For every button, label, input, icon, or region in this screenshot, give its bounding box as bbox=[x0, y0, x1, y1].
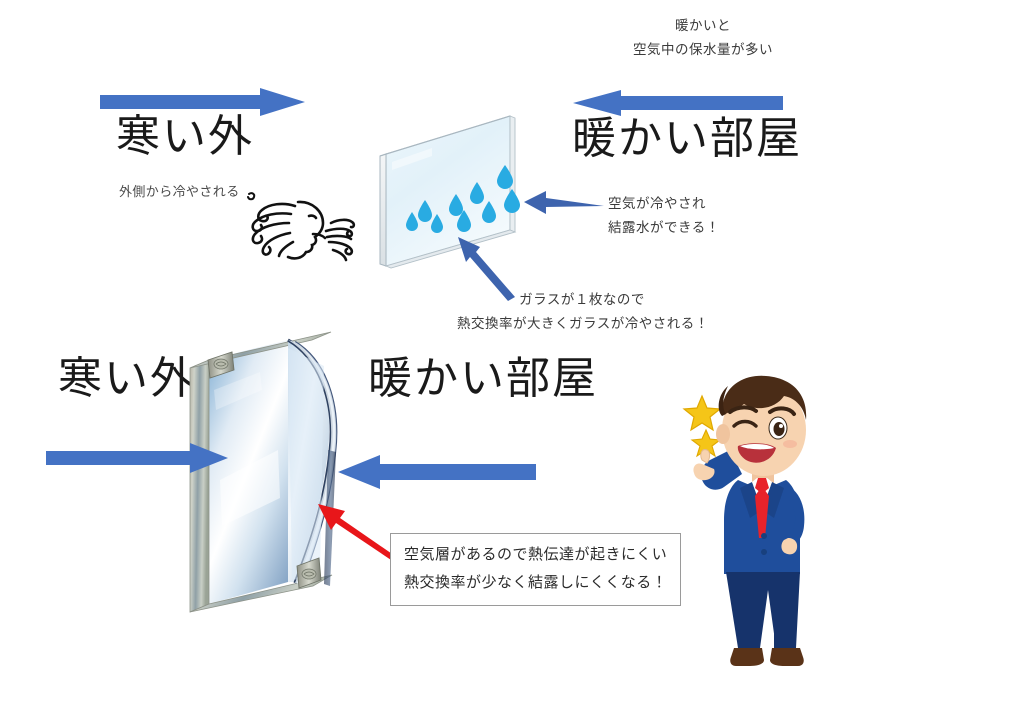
single-glass-note-line1: ガラスが１枚なので bbox=[457, 288, 707, 312]
thin-arrow-left-shape bbox=[524, 190, 604, 216]
air-layer-pointer-arrow bbox=[318, 500, 400, 562]
bottom-warm-air-flow-arrow bbox=[338, 455, 536, 489]
right-shoe bbox=[770, 648, 804, 666]
single-glass-note: ガラスが１枚なので 熱交換率が大きくガラスが冷やされる！ bbox=[457, 288, 707, 335]
air-layer-note-box: 空気層があるので熱伝達が起きにくい 熱交換率が少なく結露しにくくなる！ bbox=[390, 533, 681, 606]
warm-air-moisture-note-line1: 暖かいと bbox=[588, 14, 818, 38]
bottom-cold-air-inflow-arrow bbox=[46, 443, 228, 473]
sparkle-stars-icon bbox=[684, 396, 720, 456]
air-layer-note-line1: 空気層があるので熱伝達が起きにくい bbox=[404, 541, 667, 569]
warm-air-moisture-note-line2: 空気中の保水量が多い bbox=[588, 38, 818, 62]
condensation-note-line1: 空気が冷やされ bbox=[608, 192, 720, 216]
single-glass-note-line2: 熱交換率が大きくガラスが冷やされる！ bbox=[457, 312, 707, 336]
businessman-character bbox=[672, 368, 852, 670]
diagram-canvas: 暖かいと 空気中の保水量が多い 寒い外 暖かい部屋 外側から冷やされる bbox=[0, 0, 1024, 723]
wind-face-shape bbox=[243, 190, 361, 266]
top-outside-label: 寒い外 bbox=[116, 114, 254, 160]
wind-blowing-face-icon bbox=[243, 190, 361, 266]
top-inside-label: 暖かい部屋 bbox=[572, 116, 802, 162]
air-layer-note-line2: 熱交換率が少なく結露しにくくなる！ bbox=[404, 569, 667, 597]
arrow-left-shape bbox=[338, 455, 536, 489]
condensation-note-line2: 結露水ができる！ bbox=[608, 216, 720, 240]
top-outside-cooling-note: 外側から冷やされる bbox=[119, 182, 240, 202]
arrow-left-shape bbox=[573, 90, 783, 116]
warm-air-moisture-note: 暖かいと 空気中の保水量が多い bbox=[588, 14, 818, 61]
businessman-shape bbox=[672, 368, 852, 670]
arrow-right-shape bbox=[46, 443, 228, 473]
red-arrow-upleft-shape bbox=[318, 500, 400, 562]
air-cooled-pointer-arrow bbox=[524, 190, 604, 216]
condensation-note: 空気が冷やされ 結露水ができる！ bbox=[608, 192, 720, 239]
left-shoe bbox=[730, 648, 764, 666]
bottom-inside-label: 暖かい部屋 bbox=[368, 356, 598, 402]
top-warm-air-flow-arrow bbox=[573, 90, 783, 116]
hip-hand bbox=[781, 538, 797, 554]
